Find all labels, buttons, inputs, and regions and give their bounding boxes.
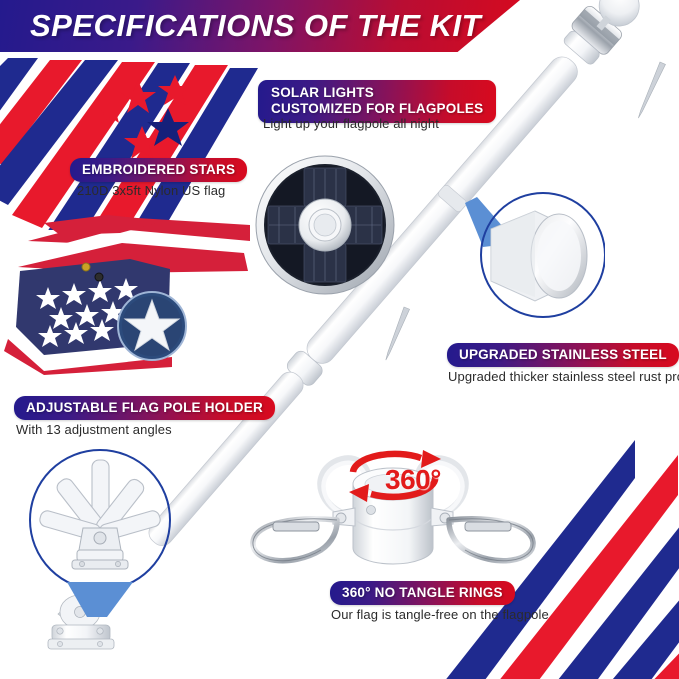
label-upgraded-stainless-steel: UPGRADED STAINLESS STEEL	[447, 343, 679, 367]
sub-embroidered-stars: 210D 3x5ft Nylon US flag	[77, 183, 225, 198]
sub-adjustable-flag-pole-holder: With 13 adjustment angles	[16, 422, 172, 437]
header-banner: SPECIFICATIONS OF THE KIT	[0, 0, 520, 52]
page-title: SPECIFICATIONS OF THE KIT	[30, 8, 481, 44]
sub-solar-lights: Light up your flagpole all night	[263, 116, 439, 131]
label-solar-lights-line1: SOLAR LIGHTS	[271, 85, 483, 101]
ring-360-badge: 360°	[385, 464, 441, 496]
label-solar-lights-line2: CUSTOMIZED FOR FLAGPOLES	[271, 101, 483, 117]
label-embroidered-stars: EMBROIDERED STARS	[70, 158, 247, 182]
no-tangle-ring-assembly	[225, 430, 555, 580]
sub-upgraded-stainless-steel: Upgraded thicker stainless steel rust pr…	[448, 369, 679, 384]
top-left-stripes-decoration	[0, 30, 290, 230]
infographic-canvas: SPECIFICATIONS OF THE KIT	[0, 0, 679, 679]
sub-no-tangle-rings: Our flag is tangle-free on the flagpole	[331, 607, 549, 622]
decorative-stars	[95, 75, 192, 159]
embroidered-star-icon	[116, 290, 188, 362]
stainless-steel-icon	[455, 185, 605, 325]
label-adjustable-flag-pole-holder: ADJUSTABLE FLAG POLE HOLDER	[14, 396, 275, 420]
solar-disc-icon	[252, 152, 398, 298]
pole-holder-diagram-icon	[15, 442, 185, 617]
label-no-tangle-rings: 360° NO TANGLE RINGS	[330, 581, 515, 605]
